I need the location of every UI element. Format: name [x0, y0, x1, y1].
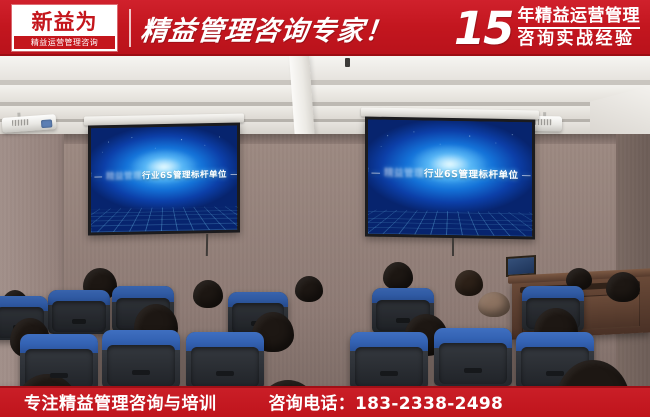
auditorium-seat — [186, 332, 264, 386]
seat-clip — [464, 368, 483, 373]
seat-clip — [132, 370, 151, 375]
auditorium-seat — [48, 290, 110, 334]
slide-dash-left-end: — — [227, 169, 237, 179]
projector-vent-icon — [535, 119, 552, 125]
seat-clip — [72, 319, 87, 324]
header-slogan: 精益管理咨询专家！ — [139, 9, 395, 48]
slide-title-right: —精益管理行业6S管理标杆单位— — [368, 165, 532, 182]
slide-image: —精益管理行业6S管理标杆单位— — [368, 120, 532, 237]
slide-image: —精益管理行业6S管理标杆单位— — [91, 126, 237, 233]
auditorium-seat — [434, 328, 512, 386]
audience-head — [478, 292, 510, 317]
screen-frame: —精益管理行业6S管理标杆单位— — [365, 117, 535, 240]
slide-ghost-text-left: 精益管理 — [106, 171, 142, 182]
experience-years-number: 15 — [454, 6, 513, 51]
ceiling-band — [0, 56, 650, 80]
logo-brand-text: 新益为 — [14, 7, 115, 36]
projector-lens-icon — [41, 119, 53, 128]
projection-screen-right: —精益管理行业6S管理标杆单位— — [365, 117, 535, 240]
screen-surface: —精益管理行业6S管理标杆单位— — [368, 120, 532, 237]
screenshot-root: 新益为 精益运营管理咨询 精益管理咨询专家！ 15 年精益运营管理 咨询实战经验 — [0, 0, 650, 417]
header-experience-block: 15 年精益运营管理 咨询实战经验 — [454, 6, 640, 51]
slide-title-text-right: 行业6S管理标杆单位 — [424, 169, 518, 182]
audience-head — [295, 276, 323, 302]
projection-screen-left: —精益管理行业6S管理标杆单位— — [88, 123, 240, 236]
footer-banner: 专注精益管理咨询与培训 咨询电话：183-2338-2498 — [0, 386, 650, 417]
slide-dash-left: — — [91, 172, 106, 182]
experience-line-1: 年精益运营管理 — [518, 6, 641, 27]
seat-clip — [216, 371, 235, 376]
seat-clip — [50, 373, 69, 378]
audience-area — [0, 256, 650, 386]
conference-room-photo: —精益管理行业6S管理标杆单位— —精益管理行业6S — [0, 56, 650, 386]
ceiling-projector-left — [1, 110, 56, 134]
company-logo: 新益为 精益运营管理咨询 — [12, 5, 117, 51]
experience-text-stack: 年精益运营管理 咨询实战经验 — [518, 6, 641, 50]
audience-head — [606, 272, 640, 302]
slide-perspective-grid — [91, 206, 237, 232]
ceiling-band — [0, 85, 650, 102]
auditorium-seat — [350, 332, 428, 386]
screen-frame: —精益管理行业6S管理标杆单位— — [88, 123, 240, 236]
seat-clip — [380, 371, 399, 376]
logo-tagline-text: 精益运营管理咨询 — [14, 36, 115, 49]
header-divider — [129, 9, 131, 47]
audience-head — [455, 270, 483, 296]
ceiling-sensor-icon — [345, 58, 350, 67]
audience-head — [383, 262, 413, 290]
auditorium-seat — [102, 330, 180, 386]
header-banner: 新益为 精益运营管理咨询 精益管理咨询专家！ 15 年精益运营管理 咨询实战经验 — [0, 0, 650, 56]
seat-clip — [546, 371, 565, 376]
slide-dash-right-end: — — [518, 171, 532, 182]
screen-surface: —精益管理行业6S管理标杆单位— — [91, 126, 237, 233]
projector-vent-icon — [12, 119, 29, 126]
screen-stand-pole-left — [206, 234, 208, 256]
audience-head — [193, 280, 223, 308]
experience-line-2: 咨询实战经验 — [518, 29, 641, 50]
slide-title-text-left: 行业6S管理标杆单位 — [142, 170, 227, 182]
footer-tagline: 专注精益管理咨询与培训 — [24, 389, 217, 414]
slide-ghost-text-right: 精益管理 — [384, 168, 424, 180]
screen-stand-pole-right — [452, 238, 454, 256]
slide-dash-right: — — [368, 168, 384, 179]
footer-phone: 咨询电话：183-2338-2498 — [269, 389, 504, 414]
